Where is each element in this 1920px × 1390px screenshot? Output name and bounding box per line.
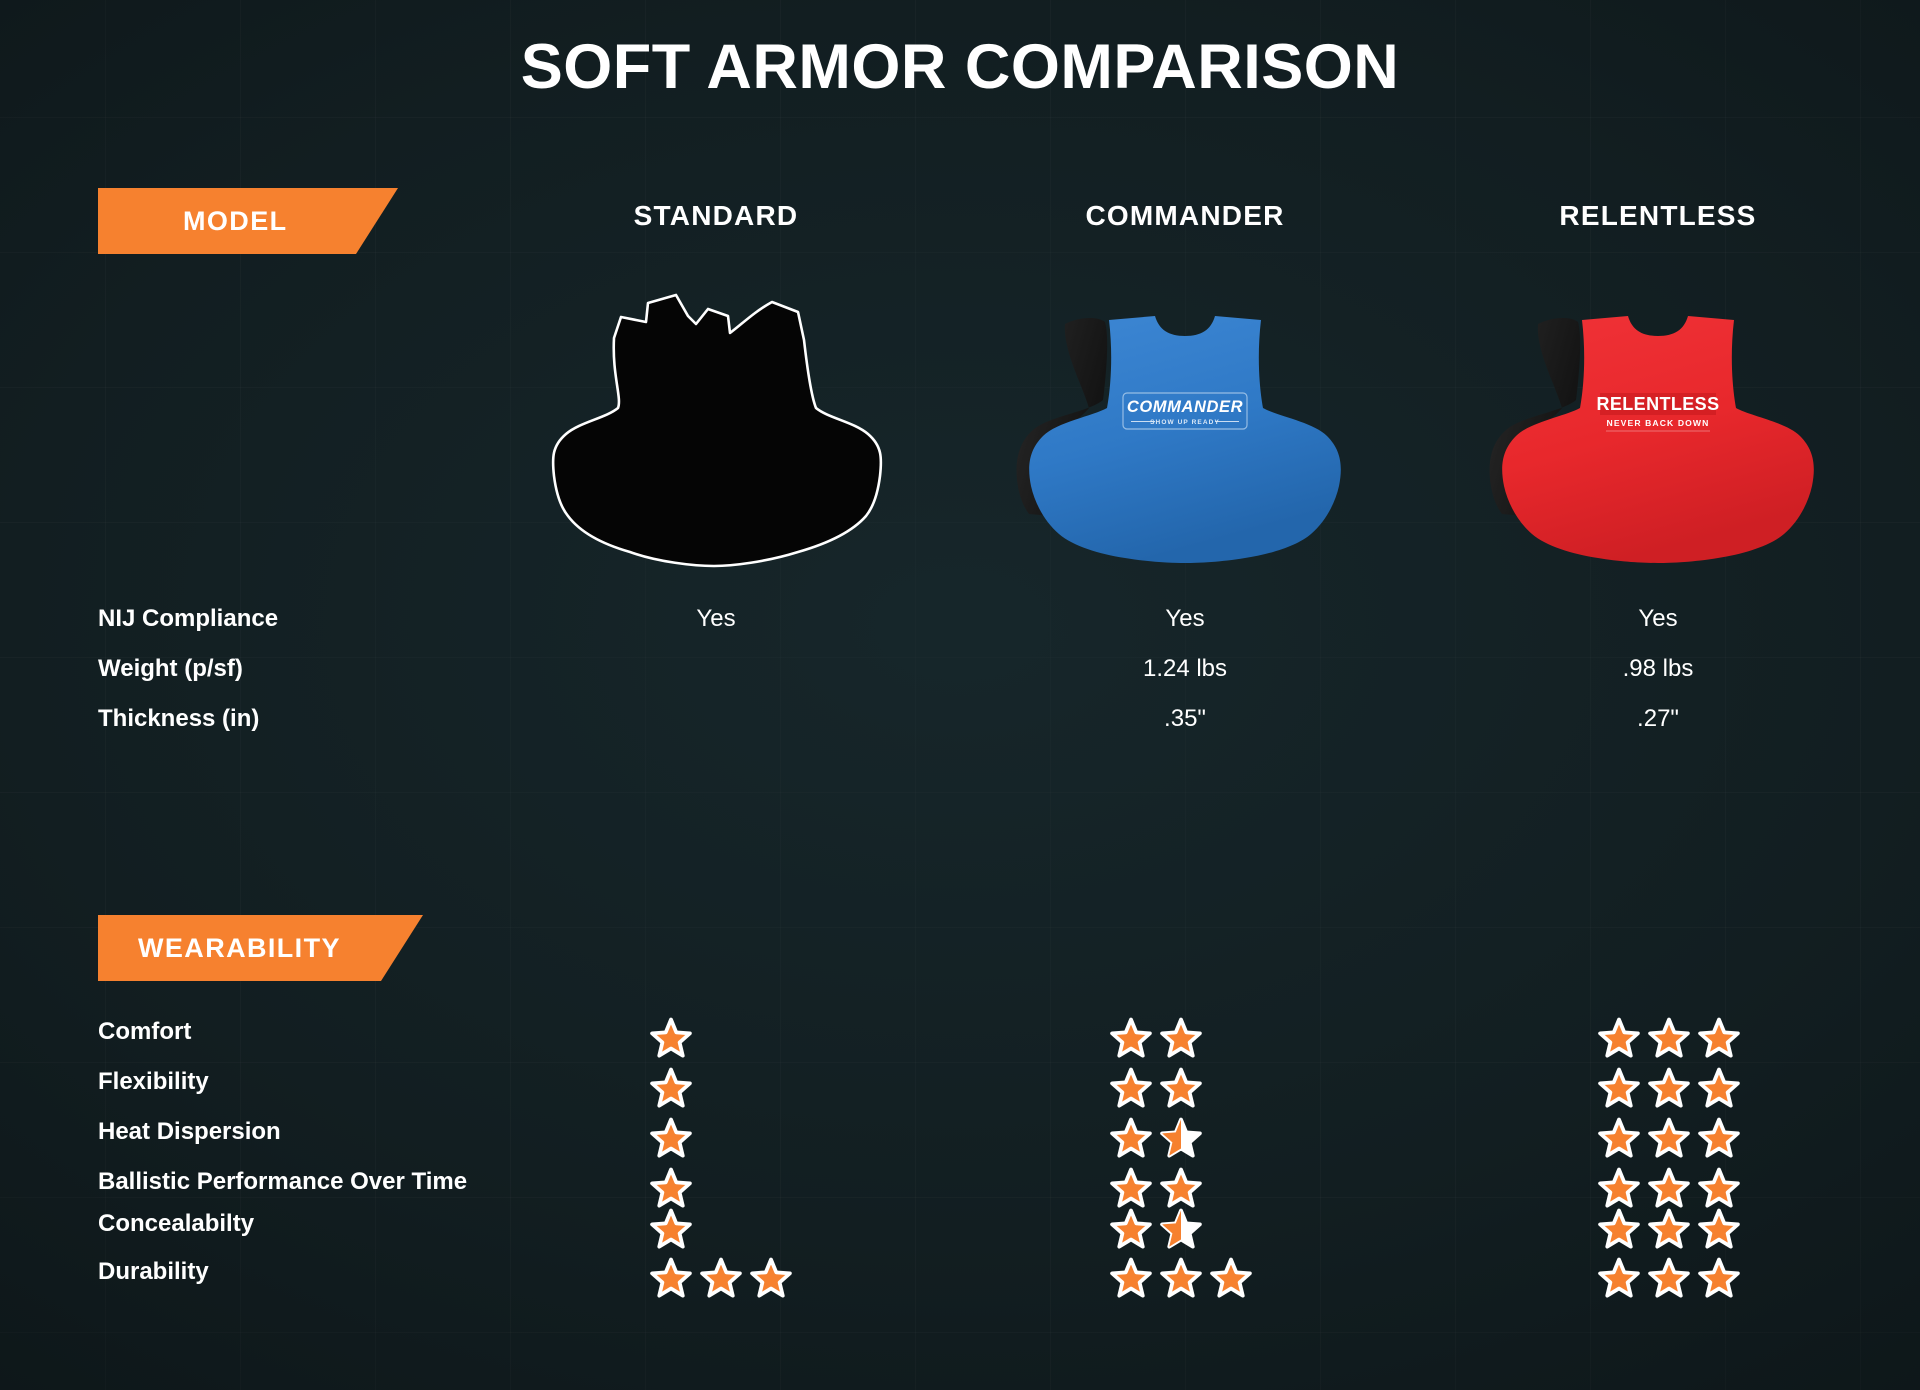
spec-value-commander-thickness: .35" <box>1005 705 1365 733</box>
star-icon <box>650 1257 692 1299</box>
vest-red-icon: RELENTLESS NEVER BACK DOWN <box>1478 290 1838 570</box>
star-icon <box>1648 1167 1690 1209</box>
star-icon <box>650 1017 692 1059</box>
star-icon <box>1598 1208 1640 1250</box>
star-icon <box>1648 1017 1690 1059</box>
star-icon <box>1598 1167 1640 1209</box>
wearability-label-flexibility: Flexibility <box>98 1068 209 1096</box>
vest-logo-patch-relentless: RELENTLESS NEVER BACK DOWN <box>1596 393 1719 431</box>
star-icon <box>1110 1257 1152 1299</box>
star-icon <box>1160 1167 1202 1209</box>
star-icon <box>1598 1117 1640 1159</box>
column-header-standard: STANDARD <box>536 200 896 232</box>
star-icon <box>1698 1257 1740 1299</box>
column-header-commander: COMMANDER <box>1005 200 1365 232</box>
star-icon <box>650 1117 692 1159</box>
star-icon <box>1648 1117 1690 1159</box>
spec-label-thickness: Thickness (in) <box>98 705 259 733</box>
column-header-relentless: RELENTLESS <box>1478 200 1838 232</box>
wearability-label-concealability: Concealabilty <box>98 1210 254 1238</box>
spec-value-relentless-nij-compliance: Yes <box>1478 605 1838 633</box>
spec-value-commander-weight: 1.24 lbs <box>1005 655 1365 683</box>
vest-blue-icon: COMMANDER SHOW UP READY <box>1005 290 1365 570</box>
star-icon <box>1160 1067 1202 1109</box>
star-icon <box>650 1167 692 1209</box>
spec-value-relentless-weight: .98 lbs <box>1478 655 1838 683</box>
rating-commander-flexibility <box>1110 1065 1202 1111</box>
star-icon <box>1110 1117 1152 1159</box>
section-banner-model-label: MODEL <box>183 206 288 237</box>
star-icon <box>1110 1167 1152 1209</box>
rating-commander-ballistic-performance <box>1110 1165 1202 1211</box>
wearability-label-ballistic-performance: Ballistic Performance Over Time <box>98 1168 467 1196</box>
star-icon <box>650 1067 692 1109</box>
spec-label-nij-compliance: NIJ Compliance <box>98 605 278 633</box>
star-icon <box>1160 1257 1202 1299</box>
star-icon <box>1698 1017 1740 1059</box>
star-icon <box>1110 1067 1152 1109</box>
vest-logo-text-relentless: RELENTLESS <box>1596 394 1719 414</box>
star-icon <box>1698 1208 1740 1250</box>
wearability-label-heat-dispersion: Heat Dispersion <box>98 1118 281 1146</box>
vest-image-relentless: RELENTLESS NEVER BACK DOWN <box>1478 290 1838 570</box>
rating-standard-concealability <box>650 1206 692 1252</box>
half-star-icon <box>1160 1117 1202 1159</box>
section-banner-wearability: WEARABILITY <box>98 915 423 981</box>
rating-standard-heat-dispersion <box>650 1115 692 1161</box>
star-icon <box>1110 1017 1152 1059</box>
star-icon <box>1698 1067 1740 1109</box>
star-icon <box>1648 1208 1690 1250</box>
page-title: SOFT ARMOR COMPARISON <box>0 36 1920 99</box>
rating-standard-comfort <box>650 1015 692 1061</box>
section-banner-wearability-label: WEARABILITY <box>138 933 341 964</box>
vest-logo-text-commander: COMMANDER <box>1127 398 1243 416</box>
vest-outline-icon <box>536 290 896 570</box>
spec-value-commander-nij-compliance: Yes <box>1005 605 1365 633</box>
rating-relentless-ballistic-performance <box>1598 1165 1740 1211</box>
rating-relentless-durability <box>1598 1255 1740 1301</box>
vest-image-commander: COMMANDER SHOW UP READY <box>1005 290 1365 570</box>
star-icon <box>650 1208 692 1250</box>
wearability-label-durability: Durability <box>98 1258 209 1286</box>
star-icon <box>1598 1257 1640 1299</box>
star-icon <box>700 1257 742 1299</box>
star-icon <box>1698 1167 1740 1209</box>
rating-standard-flexibility <box>650 1065 692 1111</box>
vest-image-standard <box>536 290 896 570</box>
rating-commander-comfort <box>1110 1015 1202 1061</box>
star-icon <box>750 1257 792 1299</box>
rating-relentless-concealability <box>1598 1206 1740 1252</box>
half-star-icon <box>1160 1208 1202 1250</box>
wearability-label-comfort: Comfort <box>98 1018 191 1046</box>
star-icon <box>1160 1017 1202 1059</box>
section-banner-model: MODEL <box>98 188 398 254</box>
star-icon <box>1648 1257 1690 1299</box>
infographic-root: SOFT ARMOR COMPARISON MODEL STANDARD COM… <box>0 0 1920 1390</box>
rating-relentless-comfort <box>1598 1015 1740 1061</box>
star-icon <box>1598 1067 1640 1109</box>
spec-value-relentless-thickness: .27" <box>1478 705 1838 733</box>
rating-relentless-flexibility <box>1598 1065 1740 1111</box>
star-icon <box>1698 1117 1740 1159</box>
rating-commander-concealability <box>1110 1206 1202 1252</box>
spec-label-weight: Weight (p/sf) <box>98 655 243 683</box>
vest-tagline-text-relentless: NEVER BACK DOWN <box>1607 418 1710 428</box>
star-icon <box>1210 1257 1252 1299</box>
spec-value-standard-nij-compliance: Yes <box>536 605 896 633</box>
rating-standard-durability <box>650 1255 792 1301</box>
rating-standard-ballistic-performance <box>650 1165 692 1211</box>
rating-commander-heat-dispersion <box>1110 1115 1202 1161</box>
rating-relentless-heat-dispersion <box>1598 1115 1740 1161</box>
star-icon <box>1648 1067 1690 1109</box>
vest-tagline-text-commander: SHOW UP READY <box>1150 419 1220 426</box>
rating-commander-durability <box>1110 1255 1252 1301</box>
star-icon <box>1110 1208 1152 1250</box>
star-icon <box>1598 1017 1640 1059</box>
